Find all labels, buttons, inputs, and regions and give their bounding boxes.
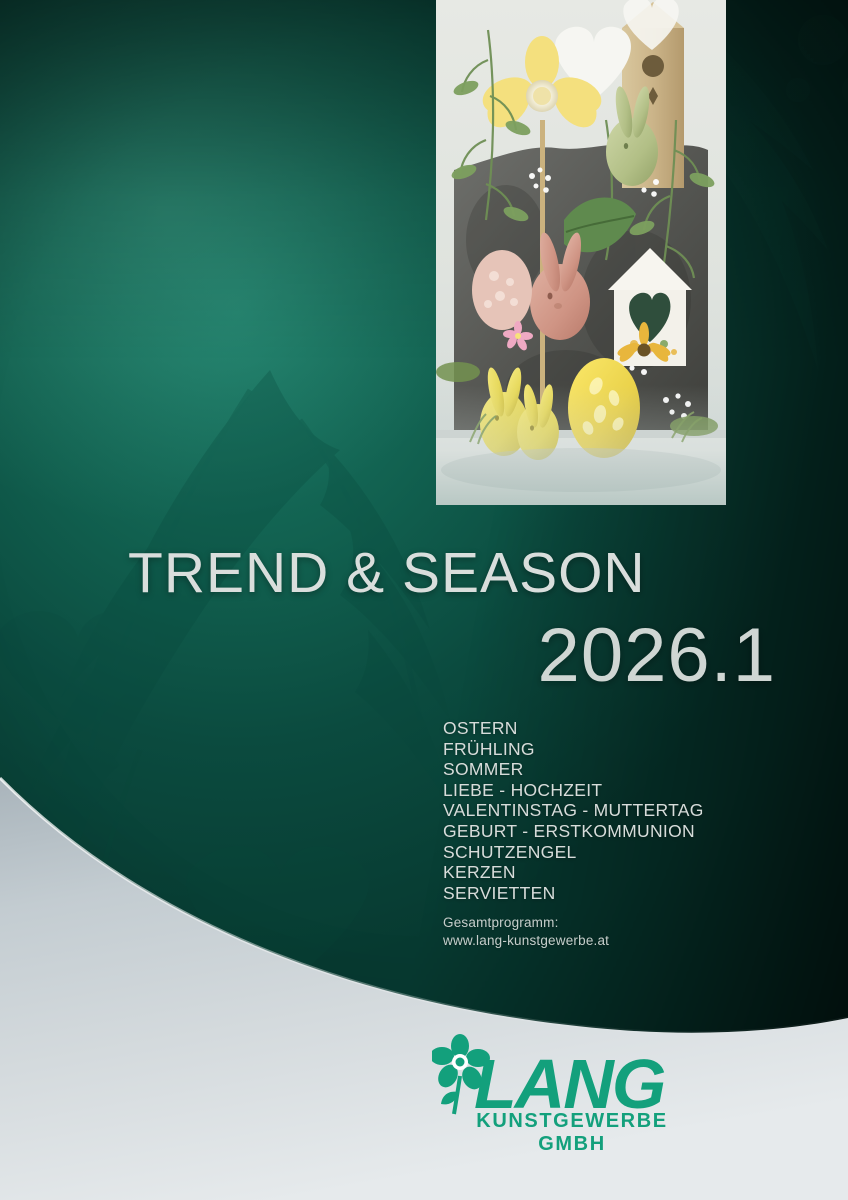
- category-item-ostern: OSTERN: [443, 718, 823, 739]
- category-item-geburt-erstkommunion: GEBURT - ERSTKOMMUNION: [443, 821, 823, 842]
- cover-photo: [436, 0, 726, 505]
- category-item-valentinstag-muttertag: VALENTINSTAG - MUTTERTAG: [443, 800, 823, 821]
- page-title: TREND & SEASON: [128, 540, 828, 606]
- photo-bottom-fade: [436, 385, 726, 505]
- program-info: Gesamtprogramm: www.lang-kunstgewerbe.at: [443, 914, 609, 950]
- program-label: Gesamtprogramm:: [443, 914, 609, 932]
- category-item-kerzen: KERZEN: [443, 862, 823, 883]
- category-item-fruehling: FRÜHLING: [443, 739, 823, 760]
- category-item-sommer: SOMMER: [443, 759, 823, 780]
- website-link[interactable]: www.lang-kunstgewerbe.at: [443, 932, 609, 950]
- edition-year: 2026.1: [538, 612, 776, 699]
- catalog-cover-page: TREND & SEASON 2026.1 OSTERN FRÜHLING SO…: [0, 0, 848, 1200]
- category-list: OSTERN FRÜHLING SOMMER LIEBE - HOCHZEIT …: [443, 718, 823, 903]
- category-item-servietten: SERVIETTEN: [443, 883, 823, 904]
- logo-subtitle: KUNSTGEWERBE GMBH: [452, 1110, 692, 1156]
- category-item-liebe-hochzeit: LIEBE - HOCHZEIT: [443, 780, 823, 801]
- category-item-schutzengel: SCHUTZENGEL: [443, 842, 823, 863]
